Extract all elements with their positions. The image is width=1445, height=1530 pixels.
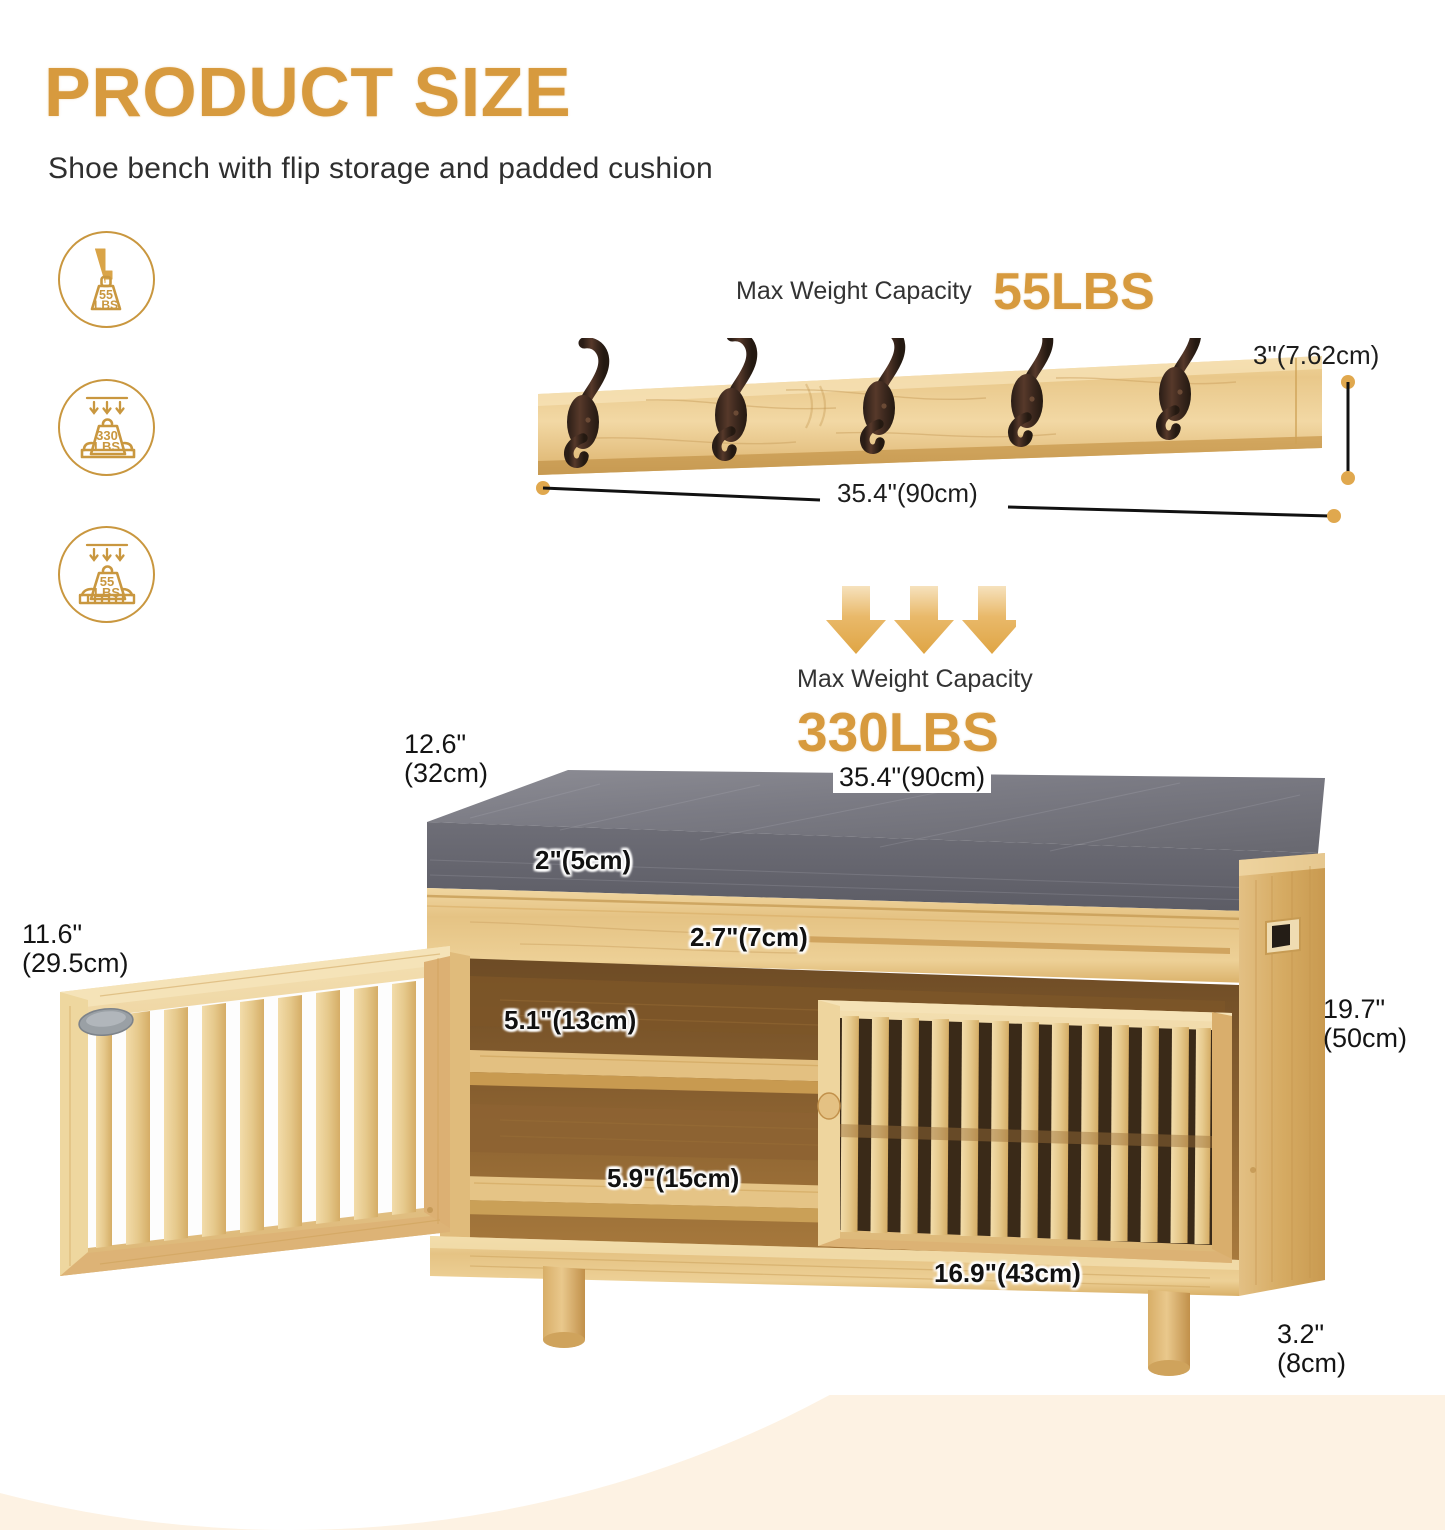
bench-dimension-lines [0, 690, 1445, 1395]
hook-rack-capacity-label: Max Weight Capacity [736, 277, 972, 306]
dimension-bench-depth-cm: (32cm) [404, 759, 488, 788]
dimension-lower-shelf-height: 5.9"(15cm) [607, 1163, 739, 1194]
dimension-total-height-inches: 19.7" [1323, 995, 1407, 1024]
dimension-leg-height-inches: 3.2" [1277, 1320, 1346, 1349]
arrow-down-icon [826, 586, 886, 654]
dimension-total-height: 19.7" (50cm) [1323, 995, 1407, 1053]
dimension-bench-depth-inches: 12.6" [404, 730, 488, 759]
arrow-down-icon [962, 586, 1016, 654]
page-subtitle: Shoe bench with flip storage and padded … [48, 152, 713, 186]
badge-unit-text: LBS [94, 298, 118, 312]
arrow-down-icon [894, 586, 954, 654]
dimension-bench-depth: 12.6" (32cm) [404, 730, 488, 788]
dimension-cushion-thickness: 2"(5cm) [535, 845, 631, 876]
dimension-endpoint [1341, 471, 1355, 485]
shelf-weight-badge: 55 LBS [58, 526, 155, 623]
dimension-drawer-height: 2.7"(7cm) [690, 922, 808, 953]
dimension-leg-height-cm: (8cm) [1277, 1349, 1346, 1378]
dimension-leg-height: 3.2" (8cm) [1277, 1320, 1346, 1378]
dimension-door-height-inches: 11.6" [22, 920, 129, 949]
hook-weight-badge: 55 LBS [58, 231, 155, 328]
dimension-rack-width: 35.4"(90cm) [830, 478, 985, 509]
dimension-door-width: 16.9"(43cm) [934, 1258, 1081, 1289]
dimension-total-height-cm: (50cm) [1323, 1024, 1407, 1053]
hook-with-weight-icon: 55 LBS [68, 241, 146, 319]
dimension-rack-height: 3"(7.62cm) [1253, 340, 1379, 371]
dimension-door-height-cm: (29.5cm) [22, 949, 129, 978]
weight-on-shelf-icon: 55 LBS [67, 535, 147, 615]
weight-on-bench-icon: 330 LBS [67, 388, 147, 468]
dimension-endpoint [1327, 509, 1341, 523]
weight-arrows-down [820, 586, 1016, 658]
badge-unit-text: LBS [94, 439, 120, 454]
dimension-bench-width: 35.4"(90cm) [833, 762, 991, 793]
dimension-upper-shelf-height: 5.1"(13cm) [504, 1005, 636, 1036]
badge-unit-text: LBS [94, 585, 120, 600]
hook-rack-capacity-value: 55LBS [993, 262, 1155, 322]
seat-weight-badge: 330 LBS [58, 379, 155, 476]
dimension-door-height: 11.6" (29.5cm) [22, 920, 129, 978]
page-title: PRODUCT SIZE [44, 57, 571, 127]
